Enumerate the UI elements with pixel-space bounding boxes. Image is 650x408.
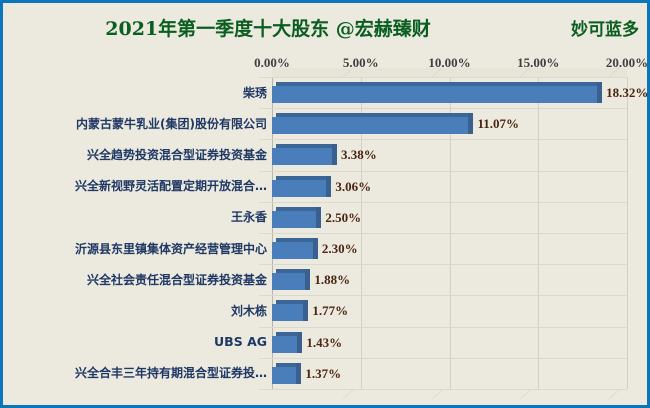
category-label: 兴全合丰三年持有期混合型证券投… (9, 365, 267, 381)
bar[interactable] (272, 82, 602, 103)
bar[interactable] (272, 269, 310, 290)
bar-side-face (332, 144, 337, 165)
bar-side-face (468, 113, 473, 134)
bar-row: 1.77% (272, 295, 627, 326)
bar-value-label: 3.38% (341, 147, 377, 163)
category-label: 沂源县东里镇集体资产经营管理中心 (9, 241, 267, 257)
bar[interactable] (272, 363, 301, 384)
bar-face (272, 336, 297, 353)
category-label: UBS AG (9, 334, 267, 350)
bar-face (272, 180, 326, 197)
gridline-slant-floor (520, 389, 544, 399)
bar-value-label: 1.77% (312, 303, 348, 319)
bar-value-label: 11.07% (477, 116, 519, 132)
chart-container: 2021年第一季度十大股东 @宏赫臻财 妙可蓝多 0.00%5.00%10.00… (0, 0, 650, 408)
bar-face (272, 117, 468, 134)
gridline-slant-floor (608, 389, 632, 399)
bar-top-face (276, 144, 336, 148)
bar-value-label: 2.30% (322, 241, 358, 257)
bar-value-label: 18.32% (606, 85, 648, 101)
bar-row: 2.30% (272, 233, 627, 264)
bar-side-face (313, 238, 318, 259)
bar-row: 1.88% (272, 264, 627, 295)
bar-face (272, 148, 332, 165)
bar-row: 2.50% (272, 202, 627, 233)
bar[interactable] (272, 207, 321, 228)
bar-side-face (316, 207, 321, 228)
bar-top-face (276, 82, 601, 86)
category-label: 兴全社会责任混合型证券投资基金 (9, 272, 267, 288)
bar-side-face (597, 82, 602, 103)
bar-value-label: 1.37% (305, 366, 341, 382)
series-name-label: 妙可蓝多 (571, 15, 639, 40)
bar-top-face (276, 176, 330, 180)
bar-value-label: 1.43% (306, 335, 342, 351)
bar[interactable] (272, 238, 318, 259)
bar-side-face (297, 332, 302, 353)
bar[interactable] (272, 332, 302, 353)
bar-row: 3.06% (272, 171, 627, 202)
bar-row: 1.43% (272, 327, 627, 358)
bar-face (272, 367, 296, 384)
category-axis-labels: 柴琇内蒙古蒙牛乳业(集团)股份有限公司兴全趋势投资混合型证券投资基金兴全新视野灵… (9, 77, 267, 389)
category-label: 王永香 (9, 209, 267, 225)
bar-value-label: 3.06% (335, 179, 371, 195)
title-row: 2021年第一季度十大股东 @宏赫臻财 妙可蓝多 (3, 14, 650, 44)
bar-row: 11.07% (272, 108, 627, 139)
bar[interactable] (272, 113, 473, 134)
bar-row: 3.38% (272, 139, 627, 170)
category-label: 内蒙古蒙牛乳业(集团)股份有限公司 (9, 116, 267, 132)
category-label: 兴全新视野灵活配置定期开放混合… (9, 178, 267, 194)
bar-row: 18.32% (272, 77, 627, 108)
bar-side-face (305, 269, 310, 290)
bar-face (272, 242, 313, 259)
row-separator-bottom (259, 389, 627, 390)
bar-value-label: 2.50% (325, 210, 361, 226)
bar-row: 1.37% (272, 358, 627, 389)
bar-top-face (276, 207, 320, 211)
gridline-vertical (627, 77, 628, 389)
chart-title: 2021年第一季度十大股东 @宏赫臻财 (3, 14, 533, 41)
bar-side-face (326, 176, 331, 197)
bar-top-face (276, 238, 317, 242)
bar[interactable] (272, 176, 331, 197)
bar-top-face (276, 269, 309, 273)
bar-face (272, 273, 305, 290)
bar-side-face (303, 300, 308, 321)
bar-face (272, 86, 597, 103)
category-label: 刘木栋 (9, 303, 267, 319)
bar-value-label: 1.88% (314, 272, 350, 288)
gridline-slant-floor (431, 389, 455, 399)
category-label: 兴全趋势投资混合型证券投资基金 (9, 147, 267, 163)
bar-side-face (296, 363, 301, 384)
bar[interactable] (272, 144, 337, 165)
bar[interactable] (272, 300, 308, 321)
category-label: 柴琇 (9, 85, 267, 101)
gridline-slant-floor (342, 389, 366, 399)
plot-area: 18.32%11.07%3.38%3.06%2.50%2.30%1.88%1.7… (272, 77, 627, 389)
bar-top-face (276, 113, 472, 117)
bar-face (272, 304, 303, 321)
bar-face (272, 211, 316, 228)
